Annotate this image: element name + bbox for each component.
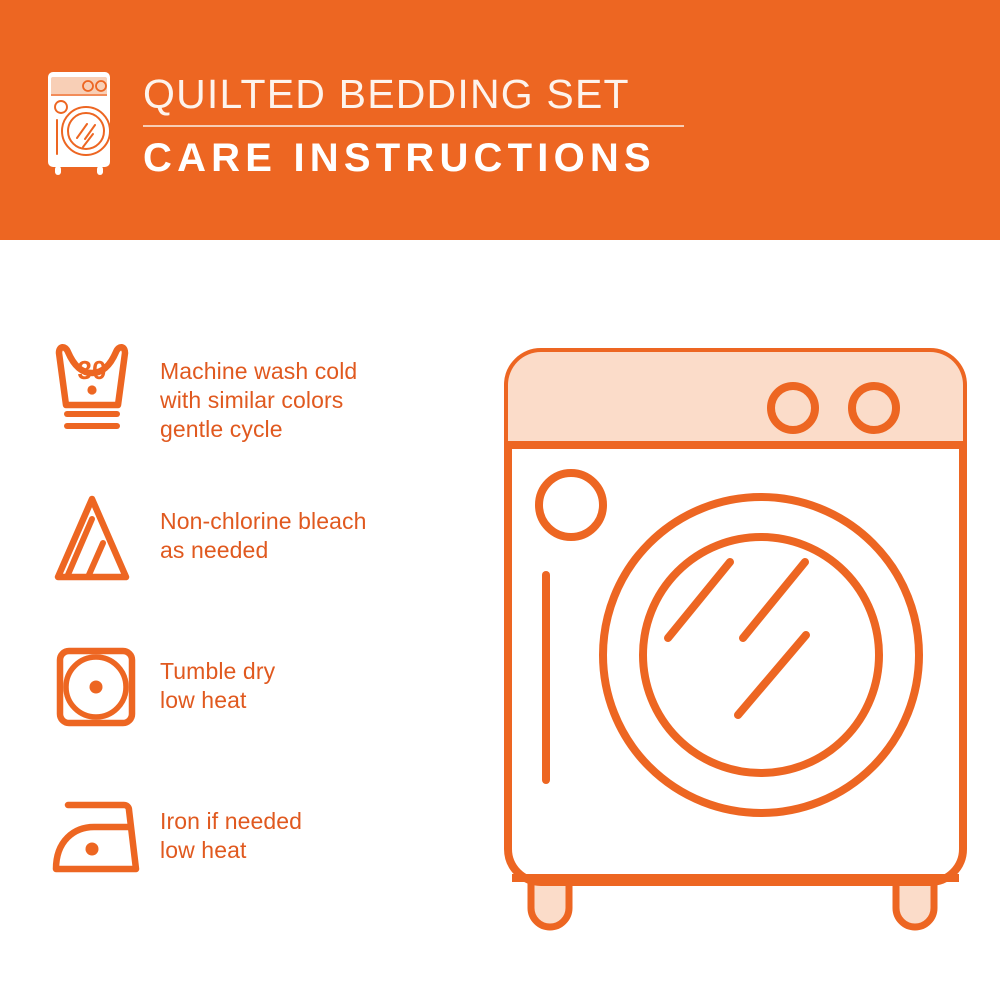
care-text-line: gentle cycle	[160, 415, 484, 444]
page-subtitle: CARE INSTRUCTIONS	[143, 135, 703, 181]
care-text-line: Machine wash cold	[160, 357, 484, 386]
care-text-machine-wash: Machine wash cold with similar colors ge…	[160, 335, 484, 444]
washing-machine-icon	[44, 68, 118, 178]
machine-wash-basin-icon: 30	[44, 335, 160, 439]
page-title: QUILTED BEDDING SET	[143, 70, 703, 118]
page-header: QUILTED BEDDING SET CARE INSTRUCTIONS	[0, 0, 1000, 240]
non-chlorine-bleach-triangle-icon	[44, 485, 160, 589]
care-instructions-page: QUILTED BEDDING SET CARE INSTRUCTIONS 30…	[0, 0, 1000, 1000]
title-divider	[143, 125, 684, 127]
front-load-washing-machine-illustration	[486, 330, 996, 940]
care-text-line: Non-chlorine bleach	[160, 507, 484, 536]
wash-temperature-label: 30	[78, 355, 107, 385]
tumble-dry-low-icon	[44, 635, 160, 739]
care-row-bleach: Non-chlorine bleach as needed	[44, 485, 484, 635]
care-row-machine-wash: 30 Machine wash cold with similar colors…	[44, 335, 484, 485]
care-text-bleach: Non-chlorine bleach as needed	[160, 485, 484, 565]
care-row-iron: Iron if needed low heat	[44, 785, 484, 935]
header-title-group: QUILTED BEDDING SET CARE INSTRUCTIONS	[143, 70, 703, 181]
care-text-line: Tumble dry	[160, 657, 484, 686]
care-text-tumble-dry: Tumble dry low heat	[160, 635, 484, 715]
care-text-line: Iron if needed	[160, 807, 484, 836]
care-text-line: low heat	[160, 836, 484, 865]
care-text-line: low heat	[160, 686, 484, 715]
care-instruction-list: 30 Machine wash cold with similar colors…	[44, 335, 484, 935]
care-text-iron: Iron if needed low heat	[160, 785, 484, 865]
care-text-line: with similar colors	[160, 386, 484, 415]
iron-low-heat-icon	[44, 785, 160, 889]
care-row-tumble-dry: Tumble dry low heat	[44, 635, 484, 785]
care-text-line: as needed	[160, 536, 484, 565]
